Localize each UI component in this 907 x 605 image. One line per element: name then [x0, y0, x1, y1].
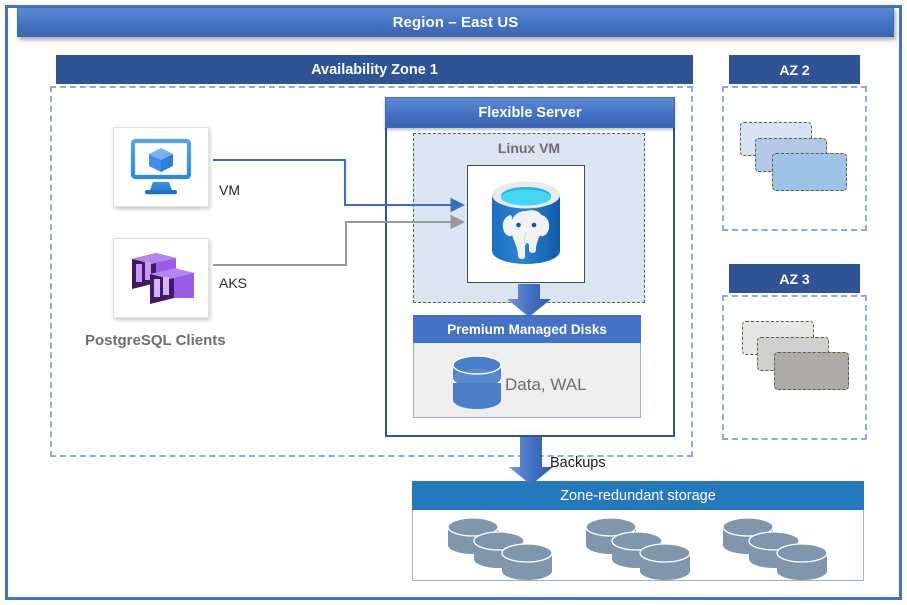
client-tile-aks[interactable] [113, 238, 209, 318]
architecture-diagram: Region – East US Availability Zone 1 [0, 0, 907, 605]
azure-vm-icon [128, 137, 194, 197]
az3-stack-card-3 [774, 352, 849, 390]
zone-redundant-storage-title: Zone-redundant storage [412, 481, 864, 510]
premium-managed-disks-label: Data, WAL [505, 375, 587, 395]
az2-stack-card-3 [772, 153, 847, 191]
backups-label: Backups [550, 455, 606, 471]
database-cylinder-icon [450, 355, 504, 411]
client-tile-vm[interactable] [113, 127, 209, 207]
linux-vm-title: Linux VM [413, 140, 645, 160]
postgresql-database-icon [482, 175, 570, 273]
postgresql-tile[interactable] [467, 165, 585, 283]
availability-zone-2-title: AZ 2 [729, 55, 860, 84]
client-label-aks: AKS [219, 275, 247, 291]
premium-managed-disks-title: Premium Managed Disks [413, 315, 641, 343]
availability-zone-3-title: AZ 3 [729, 264, 860, 293]
region-title: Region – East US [17, 7, 894, 37]
azure-aks-icon [126, 249, 196, 307]
postgresql-clients-label: PostgreSQL Clients [85, 332, 226, 349]
availability-zone-1-title: Availability Zone 1 [56, 55, 693, 84]
client-label-vm: VM [219, 182, 240, 198]
flexible-server-title: Flexible Server [385, 97, 675, 128]
